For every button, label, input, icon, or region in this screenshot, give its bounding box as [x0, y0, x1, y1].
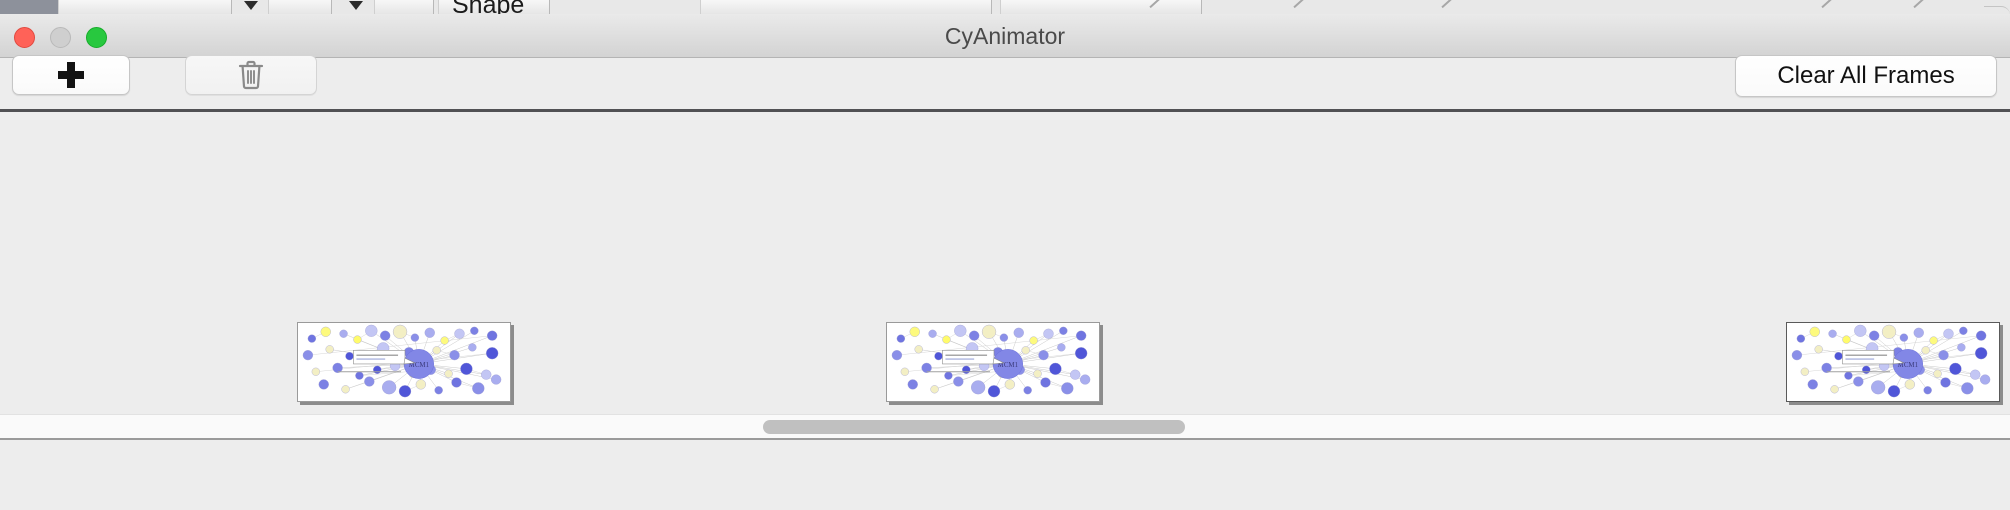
- cyanimator-window: Shape CyAnimator Clear All Frames: [0, 0, 2010, 510]
- bg-tab: [58, 0, 232, 14]
- bg-slash-icon: [1913, 0, 1926, 8]
- bg-slash-icon: [1821, 0, 1834, 8]
- bg-dark-block: [0, 0, 58, 14]
- bg-tab: [374, 0, 434, 14]
- timeline-panel[interactable]: MCM1MCM1MCM1 2131415161718 Seconds: [0, 112, 2010, 414]
- timeline-frame-thumbnail[interactable]: MCM1: [886, 322, 1100, 402]
- timeline-frame-thumbnail[interactable]: MCM1: [297, 322, 511, 402]
- bg-tab: [1000, 0, 1202, 14]
- bg-caret-icon: [349, 1, 363, 10]
- title-bar: CyAnimator: [0, 14, 2010, 58]
- timeline-scrollbar-thumb[interactable]: [763, 420, 1185, 434]
- window-title: CyAnimator: [0, 14, 2010, 58]
- bg-slash-icon: [1441, 0, 1454, 8]
- trash-icon: [238, 60, 264, 90]
- bg-slash-icon: [1293, 0, 1306, 8]
- clear-all-frames-button[interactable]: Clear All Frames: [1735, 55, 1997, 97]
- delete-frame-button[interactable]: [185, 55, 317, 95]
- bg-tab: [268, 0, 332, 14]
- playback-bar: Animation Speed:: [0, 442, 2010, 510]
- bg-window-label: Shape: [452, 0, 524, 14]
- add-frame-button[interactable]: [12, 55, 130, 95]
- timeline-frame-thumbnail[interactable]: MCM1: [1786, 322, 2000, 402]
- background-window-strip: Shape: [0, 0, 2010, 14]
- bg-window-corner: [1984, 6, 2010, 14]
- clear-all-frames-label: Clear All Frames: [1777, 62, 1954, 90]
- bg-tab: [700, 0, 992, 14]
- plus-icon: [58, 62, 84, 88]
- bg-caret-icon: [244, 1, 258, 10]
